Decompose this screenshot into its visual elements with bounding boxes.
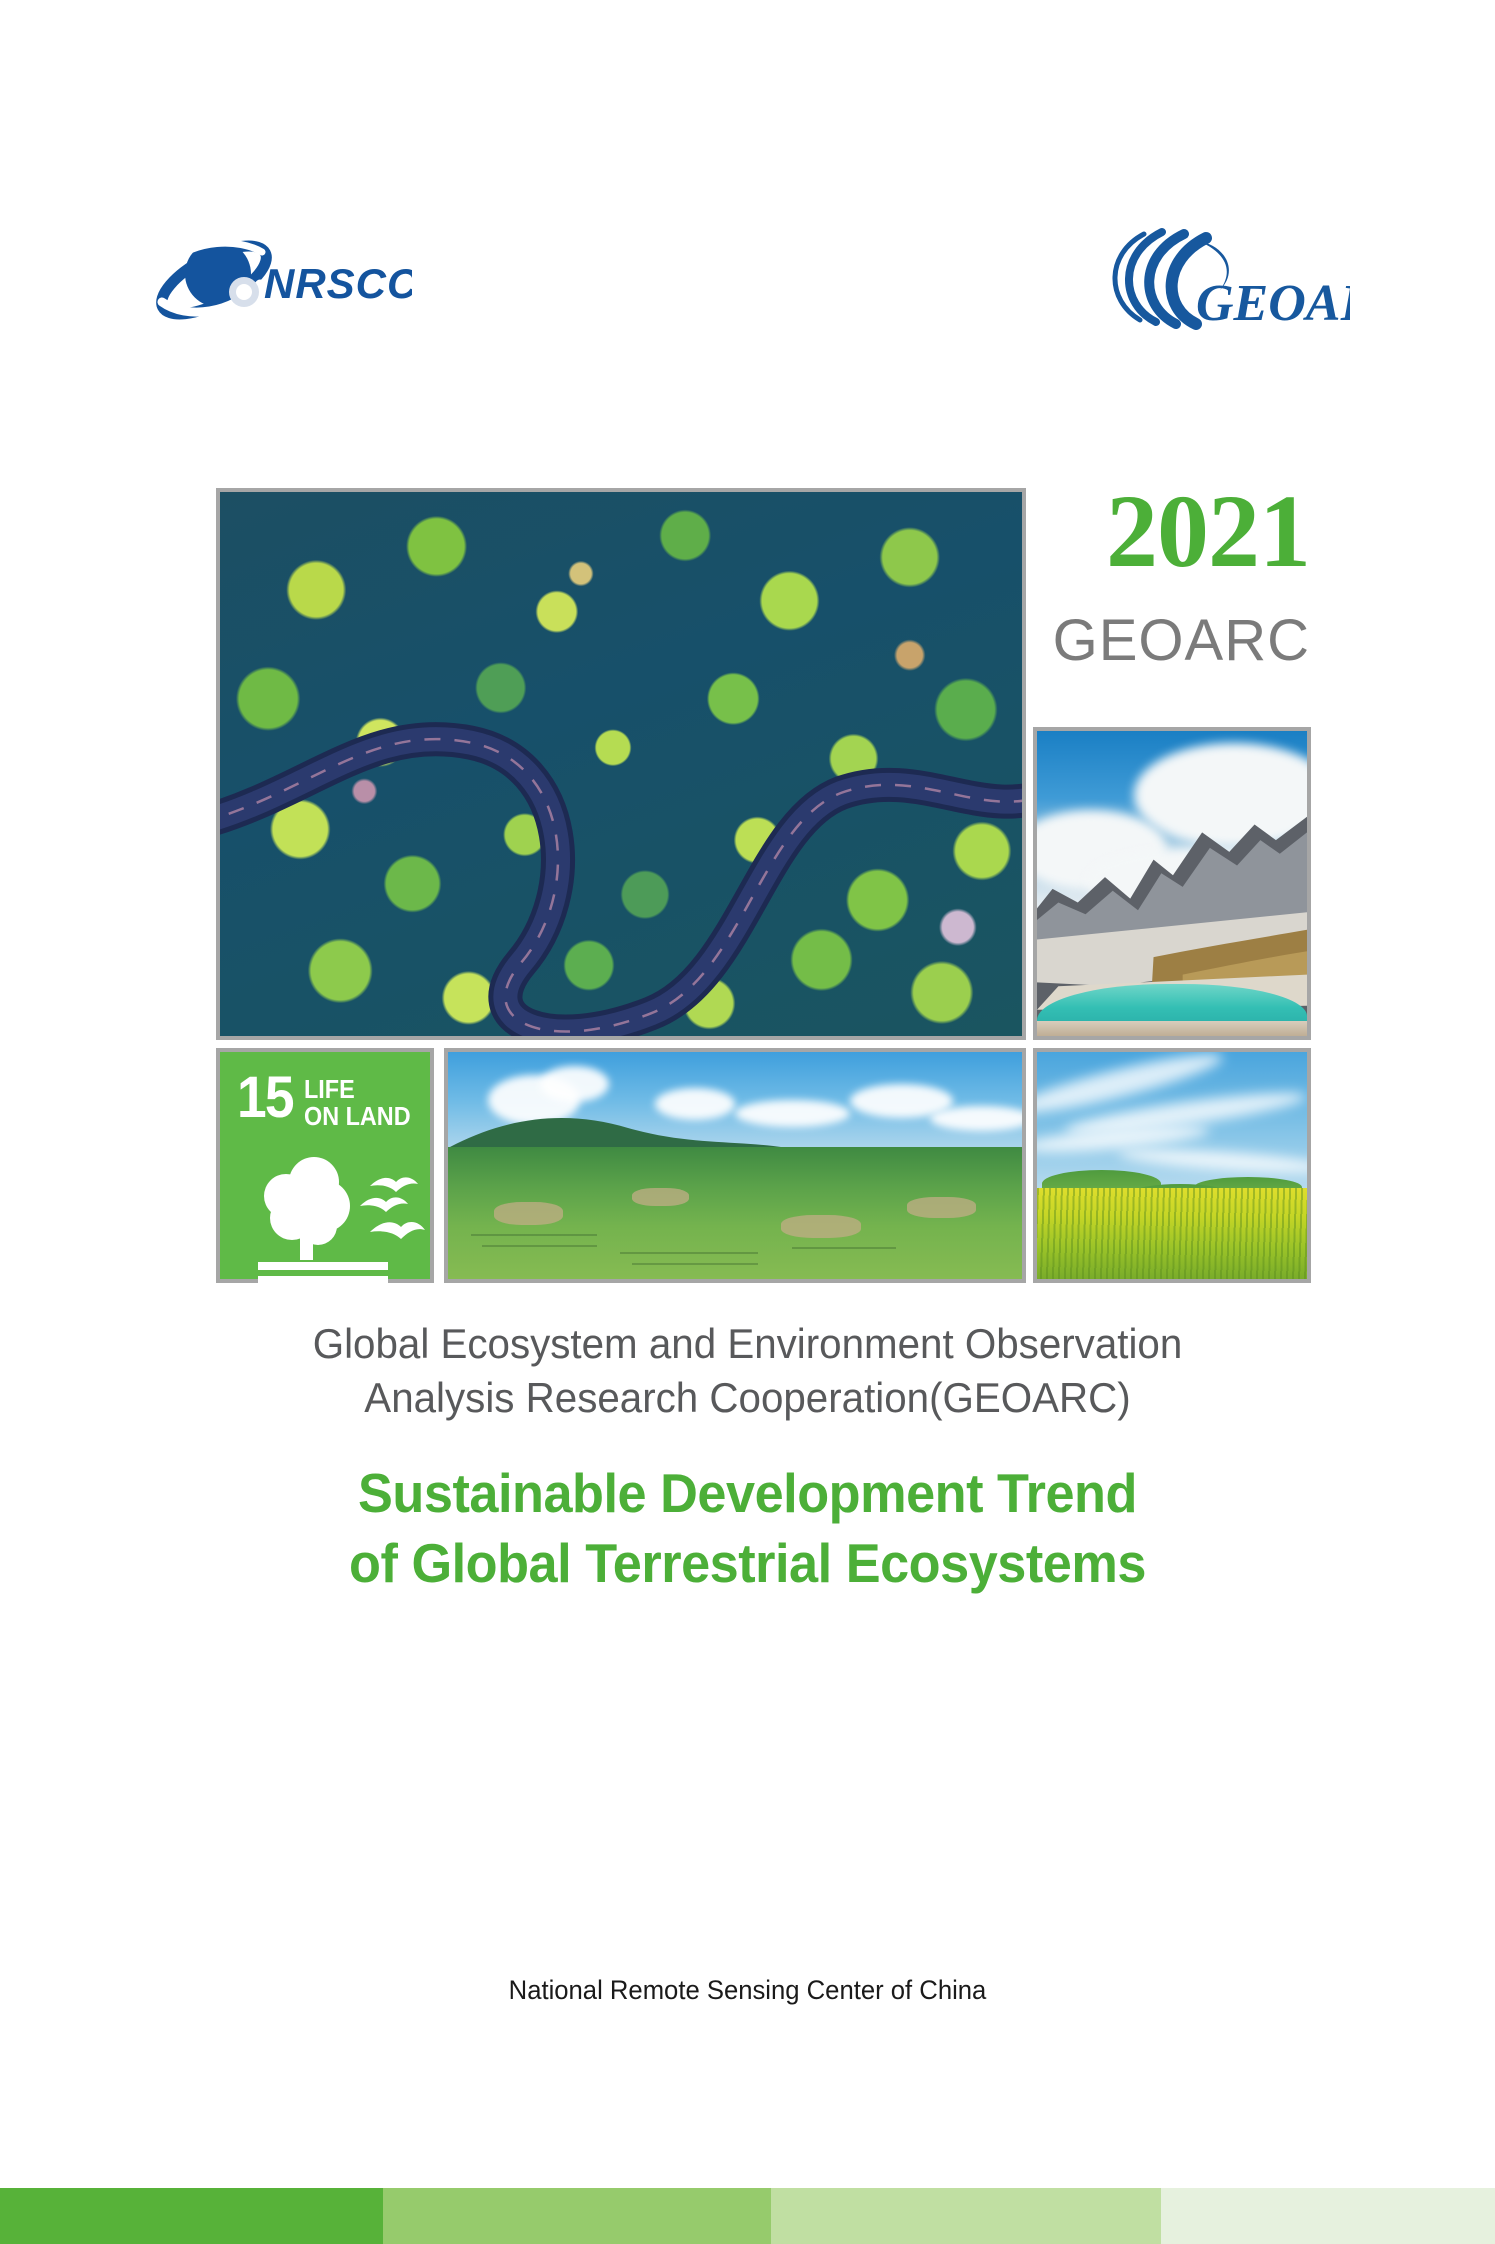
bare-field-patch	[781, 1215, 861, 1238]
footer-bar-4	[1161, 2188, 1495, 2244]
forest-road-overlay	[220, 492, 1022, 1038]
geoarc-logo: GEOARC	[1100, 220, 1350, 330]
bare-field-patch	[632, 1188, 689, 1206]
sdg-tree-and-birds-icon	[220, 1148, 430, 1284]
sdg-label: LIFE ON LAND	[304, 1076, 411, 1130]
photo-canola-field	[1033, 1048, 1311, 1283]
caption-line-2: Analysis Research Cooperation(GEOARC)	[30, 1372, 1465, 1424]
photo-terraced-hills	[444, 1048, 1026, 1283]
terrace-line	[471, 1234, 597, 1236]
cover-year: 2021	[1030, 480, 1310, 584]
report-title-line-2: of Global Terrestrial Ecosystems	[37, 1530, 1457, 1596]
sdg-15-badge: 15 LIFE ON LAND	[216, 1048, 434, 1283]
terrace-line	[632, 1263, 758, 1265]
footer-color-bars	[0, 2188, 1495, 2244]
bare-field-patch	[907, 1197, 976, 1217]
sdg-number: 15	[237, 1072, 293, 1124]
footer-bar-2	[383, 2188, 771, 2244]
terrace-line	[792, 1247, 895, 1249]
terrace-line	[482, 1245, 597, 1247]
sdg-label-line2: ON LAND	[304, 1103, 411, 1130]
footer-bar-3	[771, 2188, 1161, 2244]
photo-aerial-forest	[216, 488, 1026, 1040]
footer-bar-1	[0, 2188, 383, 2244]
geoarc-wordmark: GEOARC	[1196, 275, 1350, 330]
sdg-label-line1: LIFE	[304, 1076, 411, 1103]
canola-crop	[1037, 1188, 1307, 1279]
nrscc-logo: NRSCC	[152, 222, 412, 340]
bare-field-patch	[494, 1202, 563, 1225]
cover-program-name: GEOARC	[1000, 612, 1310, 670]
report-title-line-1: Sustainable Development Trend	[37, 1460, 1457, 1526]
caption-line-1: Global Ecosystem and Environment Observa…	[30, 1318, 1465, 1370]
publisher-name: National Remote Sensing Center of China	[37, 1975, 1457, 2006]
nrscc-wordmark: NRSCC	[264, 260, 412, 307]
photo-alpine-lake	[1033, 727, 1311, 1040]
cover-page: NRSCC GEOARC 2021 GEOARC	[0, 0, 1495, 2244]
lake-shoreline	[1037, 1021, 1307, 1036]
terrace-line	[620, 1252, 758, 1254]
